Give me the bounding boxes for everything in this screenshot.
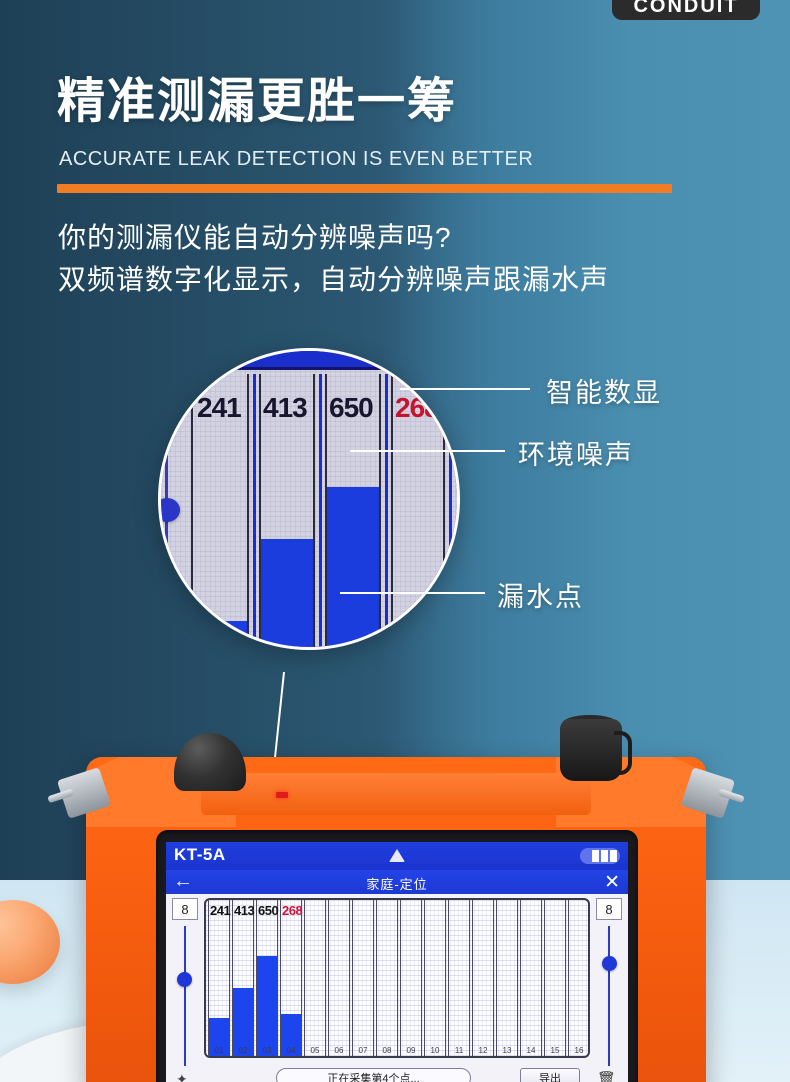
device-screen: KT-5A ← 家庭-定位 ✕ 8 <box>166 842 628 1082</box>
callout-line-1 <box>400 388 530 390</box>
chart-column[interactable] <box>328 900 350 1056</box>
magnifier-value-1: 241 <box>197 392 241 424</box>
magnifier-separator-2 <box>319 374 322 650</box>
chart-value-1: 241 <box>210 903 230 918</box>
chart-column[interactable] <box>520 900 542 1056</box>
chart-value-4: 268 <box>282 903 302 918</box>
device-dome-cap <box>174 733 246 791</box>
chart-value-3: 650 <box>258 903 278 918</box>
right-slider-knob[interactable] <box>602 956 617 971</box>
chart-xlabel: 12 <box>472 1046 494 1055</box>
chart-column[interactable] <box>304 900 326 1056</box>
magnifier-separator-3 <box>385 374 388 650</box>
chart-column[interactable] <box>496 900 518 1056</box>
chart-xlabel: 02 <box>232 1046 254 1055</box>
page-title: 精准测漏更胜一筹 <box>57 78 457 126</box>
magnifier-content: 241 413 650 268 <box>161 351 457 647</box>
right-slider-value[interactable]: 8 <box>596 898 622 920</box>
chart-column[interactable] <box>352 900 374 1056</box>
spectrum-chart[interactable]: 241 413 650 268 01 02 03 04 05 06 07 <box>204 898 590 1058</box>
close-icon[interactable]: ✕ <box>604 871 620 894</box>
chart-xlabel: 08 <box>376 1046 398 1055</box>
chart-xlabel: 07 <box>352 1046 374 1055</box>
chart-value-2: 413 <box>234 903 254 918</box>
callout-label-leak-point: 漏水点 <box>497 575 584 614</box>
home-icon[interactable]: ✦ <box>176 1071 188 1082</box>
magnifier-bar-4-fill <box>393 627 443 650</box>
device-knob[interactable] <box>560 719 622 781</box>
status-message: 正在采集第4个点... <box>276 1068 471 1082</box>
battery-cell <box>592 850 599 862</box>
chart-bar-fill <box>257 956 277 1056</box>
chart-xlabel: 11 <box>448 1046 470 1055</box>
left-slider-value[interactable]: 8 <box>172 898 198 920</box>
bell-icon <box>389 849 405 862</box>
chart-column[interactable] <box>472 900 494 1056</box>
left-slider-knob[interactable] <box>177 972 192 987</box>
accent-divider <box>57 184 672 193</box>
device-led-indicator <box>276 792 288 798</box>
callout-line-2 <box>350 450 505 452</box>
device-handle <box>201 773 591 815</box>
left-slider-track[interactable] <box>184 926 186 1066</box>
chart-xlabel: 05 <box>304 1046 326 1055</box>
chart-xlabel: 13 <box>496 1046 518 1055</box>
battery-cell <box>610 850 617 862</box>
battery-icon <box>580 848 620 864</box>
screen-subbar: ← 家庭-定位 ✕ <box>166 870 628 894</box>
magnifier-circle: 241 413 650 268 <box>158 348 460 650</box>
chart-xlabel: 09 <box>400 1046 422 1055</box>
magnifier-bar-2-fill <box>261 539 313 650</box>
chart-column[interactable] <box>400 900 422 1056</box>
chart-column[interactable] <box>376 900 398 1056</box>
device-knob-hook <box>614 731 632 775</box>
chart-xlabel: 04 <box>280 1046 302 1055</box>
battery-cell <box>601 850 608 862</box>
magnifier-value-4: 268 <box>395 392 439 424</box>
lead-text-line-2: 双频谱数字化显示，自动分辨噪声跟漏水声 <box>58 258 609 298</box>
callout-label-ambient-noise: 环境噪声 <box>518 433 634 472</box>
magnifier-spectrum-panel: 241 413 650 268 <box>158 367 460 650</box>
chart-xlabel: 06 <box>328 1046 350 1055</box>
chart-xlabel: 01 <box>208 1046 230 1055</box>
magnifier-slider-knob <box>158 498 180 522</box>
device: KT-5A ← 家庭-定位 ✕ 8 <box>86 735 706 1082</box>
device-screen-bezel: KT-5A ← 家庭-定位 ✕ 8 <box>156 830 638 1082</box>
chart-column[interactable] <box>424 900 446 1056</box>
magnifier-separator-1 <box>253 374 256 650</box>
callout-line-3 <box>340 592 485 594</box>
page-subtitle: ACCURATE LEAK DETECTION IS EVEN BETTER <box>59 148 533 171</box>
chart-xlabel: 03 <box>256 1046 278 1055</box>
chart-column[interactable] <box>544 900 566 1056</box>
screen-topbar: KT-5A <box>166 842 628 870</box>
chart-column[interactable] <box>448 900 470 1056</box>
screen-title: 家庭-定位 <box>166 874 628 893</box>
chart-column[interactable] <box>280 900 302 1056</box>
lead-text-line-1: 你的测漏仪能自动分辨噪声吗? <box>58 216 452 256</box>
chart-column[interactable] <box>232 900 254 1056</box>
magnifier-bar-3-fill <box>327 487 379 650</box>
chart-column[interactable] <box>568 900 590 1056</box>
chart-xlabel: 14 <box>520 1046 542 1055</box>
chart-xlabel: 15 <box>544 1046 566 1055</box>
trash-icon[interactable]: 🗑 <box>597 1070 616 1082</box>
screen-body: 8 8 <box>166 894 628 1082</box>
chart-xlabel: 10 <box>424 1046 446 1055</box>
brand-tag: CONDUIT <box>612 0 760 20</box>
callout-label-smart-display: 智能数显 <box>546 371 662 410</box>
export-button[interactable]: 导出 <box>520 1068 580 1082</box>
chart-column[interactable] <box>256 900 278 1056</box>
magnifier-value-2: 413 <box>263 392 307 424</box>
chart-xlabel: 16 <box>568 1046 590 1055</box>
right-slider-track[interactable] <box>608 926 610 1066</box>
magnifier-bar-1-fill <box>193 621 247 650</box>
screen-model-label: KT-5A <box>174 845 226 865</box>
chart-column[interactable] <box>208 900 230 1056</box>
magnifier-separator-4 <box>449 374 452 650</box>
magnifier-value-3: 650 <box>329 392 373 424</box>
